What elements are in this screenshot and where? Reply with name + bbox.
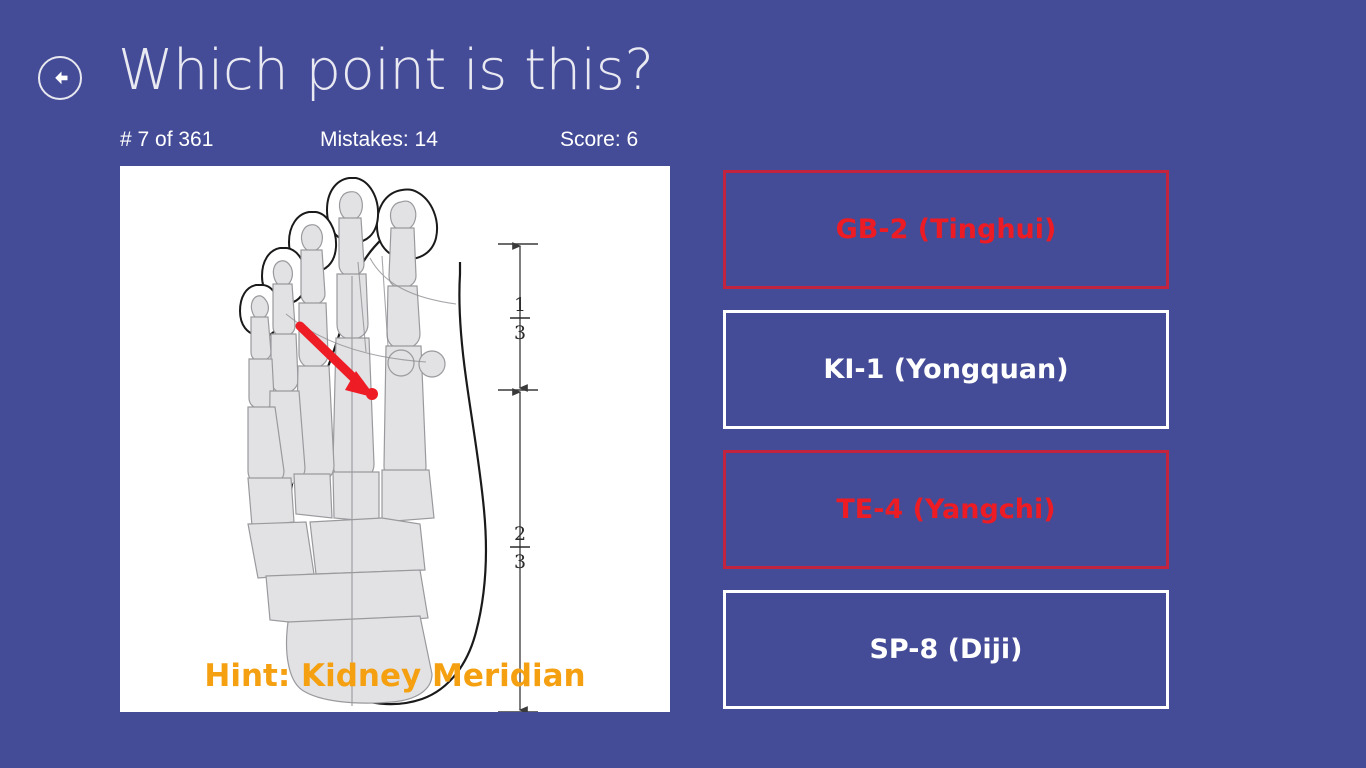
back-arrow-circle-icon: [48, 66, 72, 90]
foot-outline-group: [240, 178, 486, 706]
svg-text:1: 1: [514, 294, 526, 316]
foot-anatomy-diagram: 1 3 2 3: [120, 166, 670, 712]
svg-text:2: 2: [514, 523, 526, 545]
stat-mistakes: Mistakes: 14: [320, 128, 560, 152]
answer-option-3-label: TE-4 (Yangchi): [836, 496, 1055, 523]
answer-option-4[interactable]: SP-8 (Diji): [723, 590, 1169, 709]
stat-question-index: # 7 of 361: [120, 128, 320, 152]
answer-option-2-label: KI-1 (Yongquan): [823, 356, 1068, 383]
answer-option-3[interactable]: TE-4 (Yangchi): [723, 450, 1169, 569]
svg-text:3: 3: [514, 322, 526, 344]
svg-text:3: 3: [514, 551, 526, 573]
page-title: Which point is this?: [118, 42, 654, 101]
stats-row: # 7 of 361 Mistakes: 14 Score: 6: [120, 124, 680, 156]
proportion-ruler: 1 3 2 3: [498, 244, 538, 712]
answer-option-4-label: SP-8 (Diji): [869, 636, 1022, 663]
stat-score: Score: 6: [560, 128, 680, 152]
back-button[interactable]: [38, 56, 82, 100]
app-header: Which point is this?: [0, 0, 1366, 120]
answers-panel: GB-2 (Tinghui) KI-1 (Yongquan) TE-4 (Yan…: [723, 170, 1169, 702]
answer-option-1[interactable]: GB-2 (Tinghui): [723, 170, 1169, 289]
answer-option-2[interactable]: KI-1 (Yongquan): [723, 310, 1169, 429]
diagram-panel: 1 3 2 3 Hint: Kidney Meridian: [120, 166, 670, 712]
answer-option-1-label: GB-2 (Tinghui): [836, 216, 1057, 243]
